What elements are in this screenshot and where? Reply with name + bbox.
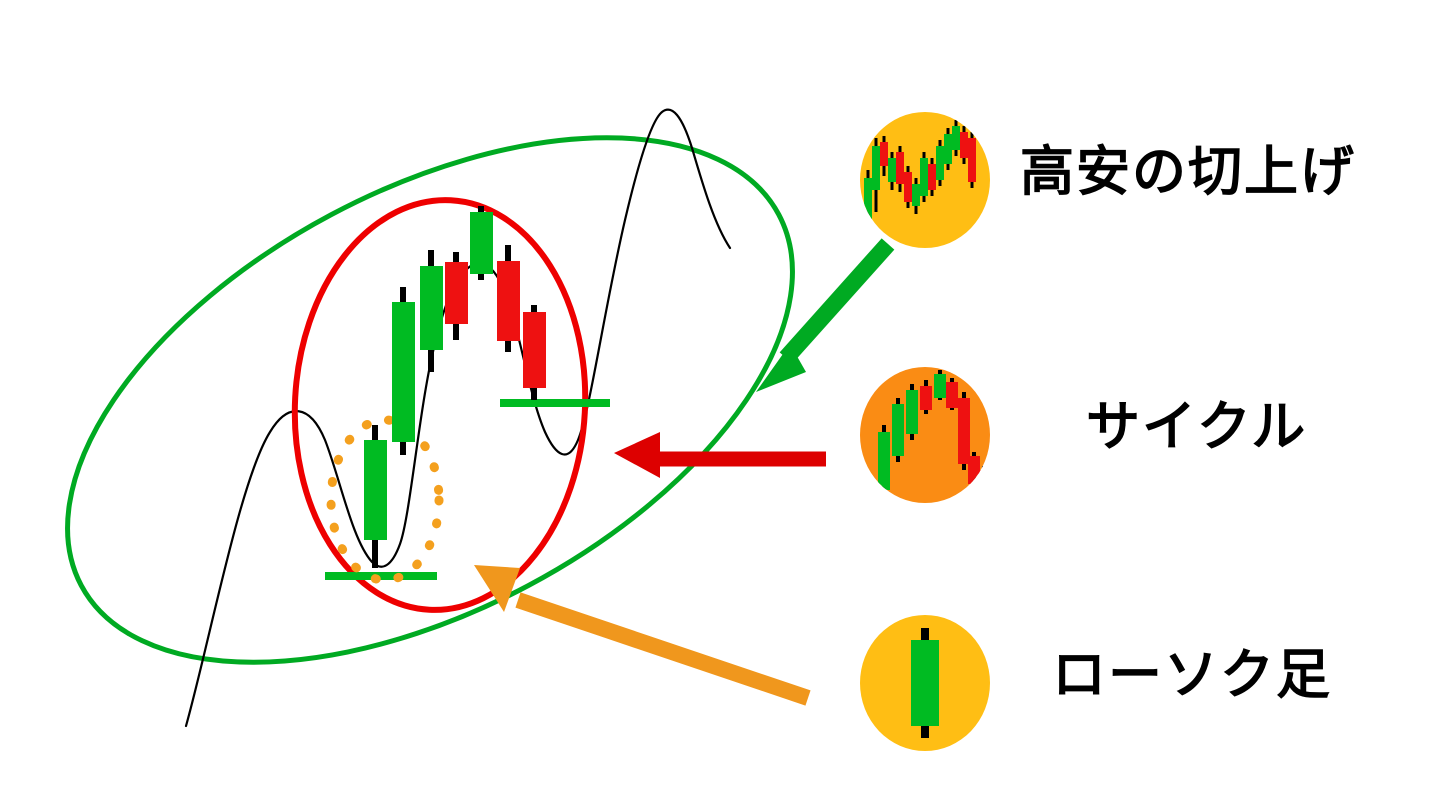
legend-label-candlestick: ローソク足 (1052, 648, 1332, 702)
legend-label-higher-highs-lows: 高安の切上げ (1020, 145, 1356, 199)
legend-badge-cycle[interactable] (860, 367, 990, 503)
red-arrow (614, 432, 826, 478)
outer-ellipse-annotation (0, 29, 877, 771)
candlestick-series (364, 206, 546, 568)
legend-badge-candlestick[interactable] (860, 615, 990, 751)
candle-bull-5 (470, 206, 493, 280)
diagram-canvas: 高安の切上げ サイクル ローソク足 (0, 0, 1440, 804)
orange-arrow (474, 565, 808, 698)
legend-label-cycle: サイクル (1086, 400, 1307, 454)
candle-bear-7 (523, 305, 546, 400)
candle-bull-0 (364, 425, 387, 568)
legend-badge-higher-highs-lows[interactable] (860, 112, 990, 248)
candle-bear-4 (445, 252, 468, 340)
single-candlestick-icon (911, 628, 939, 738)
green-arrow (756, 244, 888, 392)
candle-bull-3 (420, 250, 443, 372)
candle-bull-2 (392, 287, 415, 455)
candle-bear-6 (497, 245, 520, 352)
